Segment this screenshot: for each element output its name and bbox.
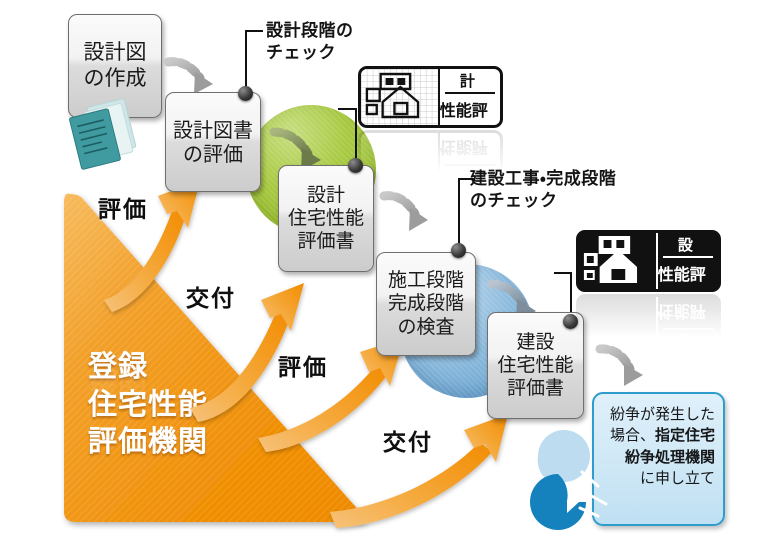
knob-design-stage-check	[238, 86, 253, 101]
design-mark-bottom-text: 性能評価	[440, 95, 500, 128]
construction-mark-bottom-text: 性能評価	[658, 259, 718, 292]
dispute-line-2-bold: 指定住宅	[655, 426, 715, 444]
knob-construction-logo	[563, 314, 578, 329]
node-design-document-evaluation[interactable]: 設計図書 の評価	[165, 92, 261, 192]
construction-mark-text-reflection: 建 設 性能評価	[656, 297, 718, 353]
arrow-const-cert-to-dispute	[600, 349, 643, 386]
node-label: 建設 住宅性能 評価書	[493, 329, 577, 403]
leader-line-construction-logo-h	[554, 272, 572, 274]
design-performance-mark: 設 計 性能評価	[358, 66, 503, 128]
node-design-housing-performance-certificate[interactable]: 設計 住宅性能 評価書	[278, 165, 374, 272]
design-mark-text: 設 計 性能評価	[438, 69, 500, 125]
leader-line-design-logo	[355, 108, 357, 164]
node-label: 施工段階 完成段階 の検査	[384, 267, 468, 341]
design-mark-top-text: 設 計	[445, 66, 494, 94]
design-mark-bottom-text-reflection: 性能評価	[440, 130, 500, 163]
leader-line-design-logo-h	[338, 108, 357, 110]
node-label: 設計図書 の評価	[169, 116, 257, 169]
house-blueprint-icon	[361, 69, 438, 125]
construction-performance-mark-reflection: 建 設 性能評価	[576, 294, 721, 356]
dispute-line-3-bold: 紛争処理機関	[625, 448, 715, 466]
house-solid-icon-reflection	[579, 297, 656, 353]
knob-design-logo	[348, 158, 363, 173]
dispute-line-1: 紛争が発生した	[602, 404, 715, 425]
arrow-draw-to-eval	[168, 62, 213, 94]
flow-label-issuance-1: 交付	[186, 279, 236, 313]
diagram-canvas: 登録 住宅性能 評価機関 登録 住宅性能 評価機関	[0, 0, 770, 538]
construction-mark-top-text-reflection: 建 設	[663, 328, 712, 356]
leader-line-design-stage-check	[245, 30, 247, 92]
dispute-bubbles-icon	[528, 438, 638, 534]
leader-line-construction-check-h	[458, 178, 474, 180]
flow-label-issuance-2: 交付	[383, 423, 433, 457]
construction-mark-text: 建 設 性能評価	[656, 233, 718, 289]
flow-label-evaluation-2: 評価	[278, 348, 328, 382]
house-solid-icon	[579, 233, 656, 289]
design-documents-icon	[62, 100, 150, 184]
construction-mark-top-text: 建 設	[663, 230, 712, 258]
node-label: 設計図 の作成	[80, 38, 151, 93]
node-label: 設計 住宅性能 評価書	[284, 182, 368, 256]
node-construction-completion-inspection[interactable]: 施工段階 完成段階 の検査	[376, 252, 476, 356]
construction-performance-mark: 建 設 性能評価	[576, 230, 721, 292]
flow-label-evaluation-1: 評価	[98, 190, 148, 224]
callout-design-stage-check: 設計段階の チェック	[266, 20, 456, 65]
leader-line-construction-check	[458, 178, 460, 248]
leader-line-design-stage-check-h	[245, 30, 263, 32]
arrow-design-cert-to-inspection	[384, 196, 428, 231]
callout-construction-completion-stage-check: 建設工事・完成段階 のチェック	[470, 168, 710, 213]
knob-construction-check	[451, 243, 466, 258]
construction-mark-bottom-text-reflection: 性能評価	[658, 294, 718, 327]
